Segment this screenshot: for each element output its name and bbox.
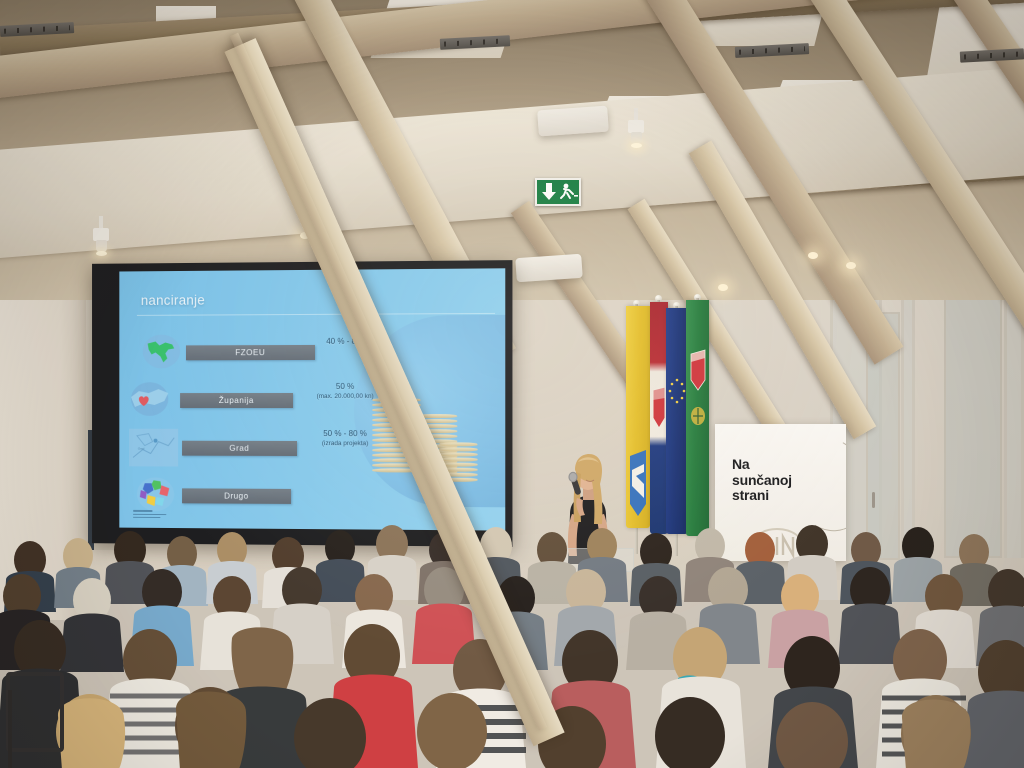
slide-footer-logo	[133, 510, 166, 520]
percent-value: 50 % - 80 %	[323, 429, 367, 438]
chair-back	[6, 672, 64, 752]
emergency-exit-sign	[535, 178, 581, 206]
percent-note: (izrada projekta)	[293, 440, 397, 449]
county-map-icon	[129, 380, 170, 420]
glass-panel-far	[1004, 296, 1024, 558]
slide-row-grad: Grad Grad	[129, 428, 297, 468]
exit-sign-glyphs	[537, 181, 579, 203]
slide-row-label-fzoeu: FZOEU	[186, 344, 315, 359]
banner-text: Na sunčanoj strani	[732, 457, 792, 504]
slide-row-label-zupanija: Županija	[180, 393, 293, 408]
glass-door-right	[944, 296, 1002, 558]
spot-light	[718, 284, 728, 291]
flag-county-green	[686, 300, 709, 536]
slide-row-label-grad: Grad	[182, 440, 297, 455]
spot-light	[846, 262, 856, 269]
banner-line-1: Na	[732, 457, 792, 473]
other-sources-icon	[135, 475, 176, 515]
ceiling-speaker	[537, 106, 609, 137]
slide-row-percent-grad: 50 % - 80 % (izrada projekta)	[293, 429, 397, 449]
flag-european-union	[666, 308, 688, 534]
flag-yellow-municipal	[626, 306, 650, 528]
spot-light	[808, 252, 818, 259]
city-map-icon: Grad	[129, 428, 178, 468]
conference-hall-photo: nanciranje FZOEU 40 % - 80 %	[0, 0, 1024, 768]
svg-text:Grad: Grad	[138, 447, 145, 451]
banner-line-2: sunčanoj	[732, 473, 792, 489]
ceiling-speaker	[515, 254, 583, 283]
banner-line-3: strani	[732, 488, 792, 504]
chair-leg	[8, 690, 12, 768]
slide-row-label-drugo: Drugo	[182, 488, 291, 504]
croatia-map-icon	[141, 333, 182, 373]
door-handle-icon	[872, 492, 875, 508]
percent-value: 50 %	[336, 382, 354, 391]
slide-row-fzoeu: FZOEU	[141, 332, 315, 372]
slide-title: nanciranje	[141, 293, 205, 308]
slide-row-zupanija: Županija	[129, 380, 293, 420]
